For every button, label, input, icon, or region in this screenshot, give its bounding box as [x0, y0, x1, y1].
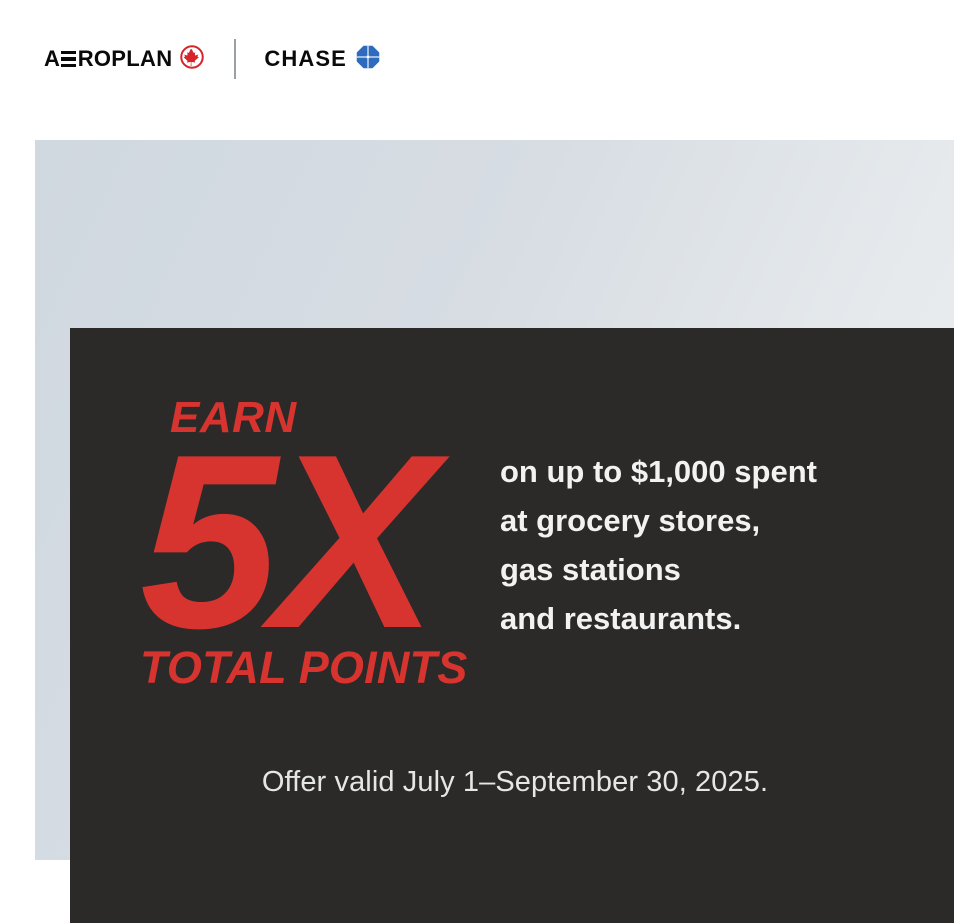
offer-multiplier-block: EARN 5X TOTAL POINTS	[70, 396, 500, 689]
chase-wordmark: CHASE	[264, 48, 347, 70]
brand-header: AROPLAN CHASE	[44, 36, 380, 82]
multiplier-value: 5X	[140, 442, 500, 640]
promo-panel: EARN 5X TOTAL POINTS on up to $1,000 spe…	[35, 140, 954, 860]
aeroplan-wordmark: AROPLAN	[44, 48, 172, 70]
brand-divider	[234, 39, 236, 79]
offer-description-line-2: at grocery stores,	[500, 497, 817, 546]
chase-logo[interactable]: CHASE	[264, 45, 380, 74]
banner-main-content: EARN 5X TOTAL POINTS on up to $1,000 spe…	[70, 328, 954, 758]
offer-description-line-1: on up to $1,000 spent	[500, 448, 817, 497]
aeroplan-e-glyph-icon	[61, 51, 76, 67]
offer-description-line-3: gas stations	[500, 546, 817, 595]
total-points-label: TOTAL POINTS	[140, 645, 500, 690]
offer-description: on up to $1,000 spent at grocery stores,…	[500, 442, 817, 644]
air-canada-maple-leaf-roundel-icon	[180, 45, 204, 74]
aeroplan-wordmark-pre: A	[44, 48, 60, 70]
chase-octagon-logo-icon	[356, 45, 380, 74]
promo-banner[interactable]: EARN 5X TOTAL POINTS on up to $1,000 spe…	[70, 328, 954, 923]
aeroplan-wordmark-post: ROPLAN	[78, 48, 173, 70]
aeroplan-logo[interactable]: AROPLAN	[44, 45, 204, 74]
offer-validity-text: Offer valid July 1–September 30, 2025.	[70, 766, 954, 799]
offer-description-line-4: and restaurants.	[500, 595, 817, 644]
